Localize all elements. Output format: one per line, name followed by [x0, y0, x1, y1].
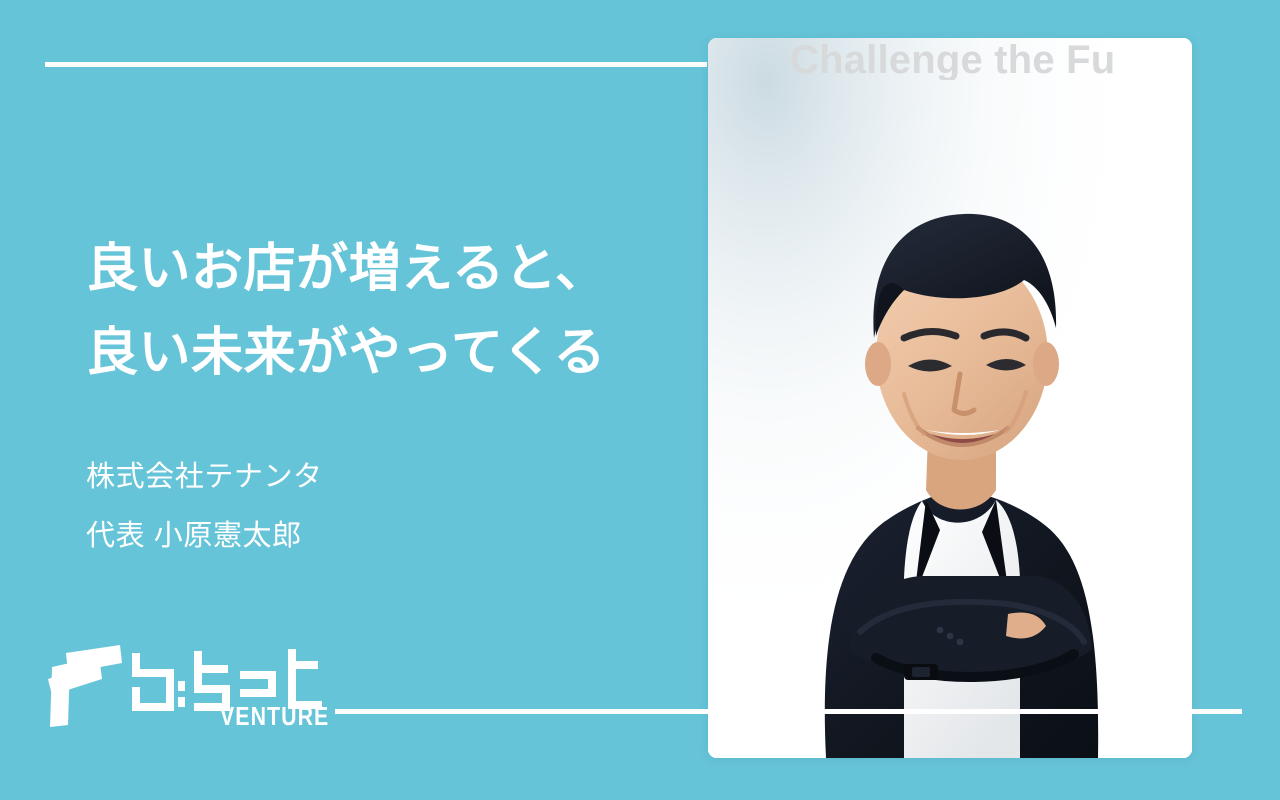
byline-person: 代表 小原憲太郎 — [86, 507, 323, 566]
slide-canvas: 良いお店が増えると、 良い未来がやってくる 株式会社テナンタ 代表 小原憲太郎 — [0, 0, 1280, 800]
page-title: 良いお店が増えると、 良い未来がやってくる — [86, 227, 686, 395]
headline-line-2: 良い未来がやってくる — [86, 311, 686, 395]
portrait-card — [708, 38, 1192, 758]
byline-company: 株式会社テナンタ — [86, 448, 323, 507]
headline-line-1: 良いお店が増えると、 — [86, 227, 686, 311]
portrait-photo — [708, 38, 1192, 758]
byline: 株式会社テナンタ 代表 小原憲太郎 — [86, 448, 323, 567]
brand-logo[interactable]: VENTURE — [44, 645, 324, 741]
logo-sub-text: VENTURE — [220, 703, 329, 729]
bottom-divider-line — [335, 709, 1242, 714]
top-divider-line — [45, 62, 707, 67]
